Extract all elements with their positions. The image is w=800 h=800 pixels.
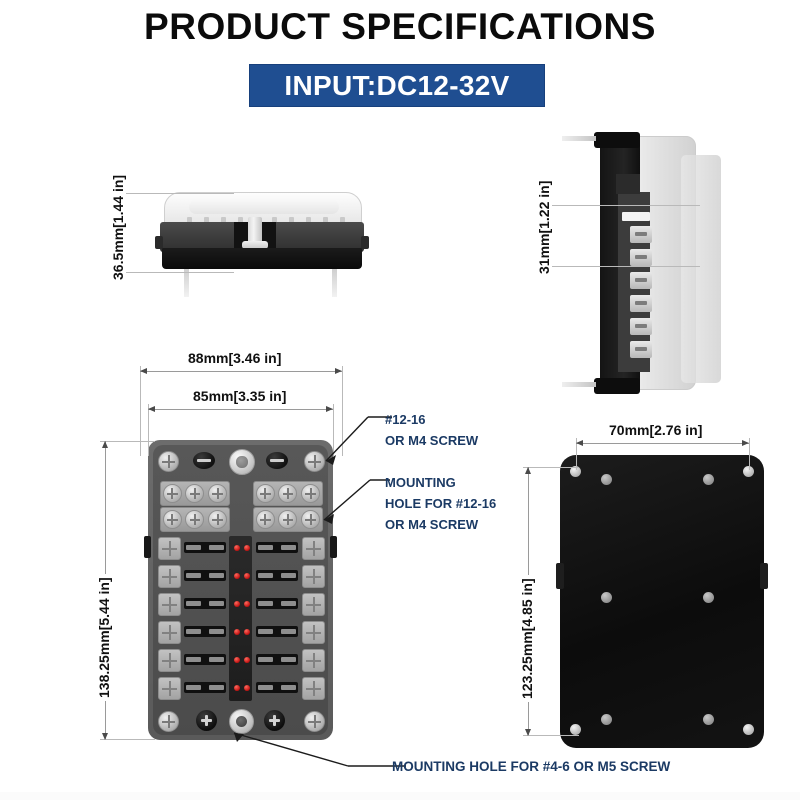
back-latch-tab-right <box>760 563 768 589</box>
terminal-screw-icon <box>301 510 320 529</box>
ext-line-tl-top <box>114 193 234 194</box>
fuse-blade-left <box>184 682 226 693</box>
ext-line-70-right <box>749 438 750 470</box>
led-left <box>234 629 240 635</box>
led-left <box>234 685 240 691</box>
circuit-screw-right-icon <box>302 593 325 616</box>
screw-top-icon <box>562 136 596 141</box>
ext-line-123-bottom <box>523 735 579 736</box>
circuit-screw-left-icon <box>158 593 181 616</box>
ext-line-88-left <box>140 366 141 456</box>
dim-label-138mm: 138.25mm[5.44 in] <box>96 574 112 701</box>
terminal-screw-icon <box>256 510 275 529</box>
dim-label-70mm: 70mm[2.76 in] <box>606 422 705 438</box>
back-panel-view <box>560 455 764 748</box>
input-voltage-badge: INPUT:DC12-32V <box>249 64 545 107</box>
callout-mounting-hole-m5: MOUNTING HOLE FOR #4-6 OR M5 SCREW <box>392 756 670 777</box>
callout-mounting-hole-m4-line-3: OR M4 SCREW <box>385 514 496 535</box>
ext-line-138-top <box>100 441 155 442</box>
side-tab-left <box>155 236 163 249</box>
fuse-array <box>158 536 323 701</box>
dim-label-height-36: 36.5mm[1.44 in] <box>110 172 126 283</box>
terminal-stack <box>630 226 652 368</box>
fuse-blade-left <box>184 542 226 553</box>
terminal-screw-icon <box>208 484 227 503</box>
circuit-screw-left-icon <box>158 565 181 588</box>
negative-bus-screw-left-icon <box>196 710 217 731</box>
housing-base <box>162 248 362 269</box>
upper-notch <box>616 174 640 194</box>
latch-tab-left <box>144 536 151 558</box>
fuse-blade-right <box>256 570 298 581</box>
led-right <box>244 601 250 607</box>
terminal-screw-icon <box>256 484 275 503</box>
ext-line-138-bottom <box>100 739 155 740</box>
led-right <box>244 657 250 663</box>
input-voltage-label: INPUT:DC12-32V <box>284 70 509 102</box>
dim-arrow-88-right <box>335 368 342 374</box>
ext-line-tr-bottom <box>540 266 700 267</box>
fuse-blade-right <box>256 598 298 609</box>
circuit-screw-left-icon <box>158 677 181 700</box>
led-right <box>244 629 250 635</box>
bus-bar <box>622 212 650 221</box>
callout-screw-spec-line-2: OR M4 SCREW <box>385 430 478 451</box>
callout-screw-spec: #12-16 OR M4 SCREW <box>385 409 478 451</box>
callout-mounting-hole-m4-line-2: HOLE FOR #12-16 <box>385 493 496 514</box>
dim-arrow-70-right <box>742 440 749 446</box>
terminal-screw-icon <box>301 484 320 503</box>
ground-terminal-block-bottom-left <box>160 507 230 532</box>
circuit-screw-left-icon <box>158 537 181 560</box>
bottom-margin-strip <box>0 792 800 800</box>
fuse-row <box>158 536 323 559</box>
back-screw-mid-right <box>703 592 714 603</box>
leader-line-mounting-hole-m5 <box>228 728 408 773</box>
circuit-screw-left-icon <box>158 621 181 644</box>
dim-line-88 <box>140 371 342 372</box>
callout-mounting-hole-m4-line-1: MOUNTING <box>385 472 496 493</box>
mounting-screw-left-icon <box>184 269 189 297</box>
fuse-blade-left <box>184 570 226 581</box>
back-screw-top-right <box>703 474 714 485</box>
back-screw-top-left <box>601 474 612 485</box>
dim-line-70 <box>576 443 749 444</box>
end-cap-bottom <box>594 378 640 394</box>
screw-bottom-icon <box>562 382 596 387</box>
fuse-row <box>158 676 323 699</box>
led-right <box>244 573 250 579</box>
fuse-blade-right <box>256 542 298 553</box>
led-left <box>234 573 240 579</box>
circuit-screw-right-icon <box>302 649 325 672</box>
circuit-screw-right-icon <box>302 677 325 700</box>
circuit-screw-left-icon <box>158 649 181 672</box>
fuse-blade-right <box>256 654 298 665</box>
negative-post-left-icon <box>193 452 215 469</box>
product-spec-sheet: PRODUCT SPECIFICATIONS INPUT:DC12-32V 36… <box>0 0 800 800</box>
ground-terminal-block-top-left <box>160 481 230 506</box>
led-right <box>244 685 250 691</box>
front-face-view <box>148 440 333 740</box>
fuse-row <box>158 648 323 671</box>
fuse-blade-left <box>184 654 226 665</box>
ground-terminal-block-bottom-right <box>253 507 323 532</box>
dim-label-88mm: 88mm[3.46 in] <box>185 350 284 366</box>
terminal-screw-icon <box>163 510 182 529</box>
led-right <box>244 545 250 551</box>
led-left <box>234 545 240 551</box>
dim-label-85mm: 85mm[3.35 in] <box>190 388 289 404</box>
fuse-blade-right <box>256 626 298 637</box>
front-edge-view <box>150 192 372 290</box>
side-tab-right <box>361 236 369 249</box>
back-screw-mid-left <box>601 592 612 603</box>
terminal-screw-icon <box>185 484 204 503</box>
dim-arrow-85-left <box>148 406 155 412</box>
dim-label-31mm: 31mm[1.22 in] <box>536 178 552 277</box>
led-left <box>234 601 240 607</box>
dim-label-123mm: 123.25mm[4.85 in] <box>519 575 535 702</box>
back-screw-bottom-right <box>703 714 714 725</box>
back-screw-bottom-left <box>601 714 612 725</box>
cover-highlight <box>189 200 339 214</box>
ground-terminal-block-top-right <box>253 481 323 506</box>
fuse-row <box>158 620 323 643</box>
side-profile-view <box>578 130 708 395</box>
back-latch-tab-left <box>556 563 564 589</box>
back-panel-body <box>560 455 764 748</box>
ext-line-tr-top <box>540 205 700 206</box>
dim-arrow-138-down <box>102 733 108 740</box>
ext-line-123-top <box>523 467 579 468</box>
back-mount-hole-bottom-right[interactable] <box>743 724 754 735</box>
dim-arrow-123-up <box>525 467 531 474</box>
terminal-screw-icon <box>185 510 204 529</box>
dim-arrow-88-left <box>140 368 147 374</box>
fuse-row <box>158 592 323 615</box>
terminal-screw-icon <box>208 510 227 529</box>
back-mount-hole-bottom-left[interactable] <box>570 724 581 735</box>
terminal-screw-icon <box>163 484 182 503</box>
mounting-screw-right-icon <box>332 269 337 297</box>
corner-screw-bottom-left-icon <box>158 711 179 732</box>
cover-inner-side <box>681 155 721 383</box>
ext-line-tl-bottom <box>114 272 234 273</box>
top-terminal-bar <box>156 447 325 475</box>
led-left <box>234 657 240 663</box>
fuse-blade-left <box>184 598 226 609</box>
end-cap-top <box>594 132 640 148</box>
terminal-screw-icon <box>278 484 297 503</box>
callout-screw-spec-line-1: #12-16 <box>385 409 478 430</box>
dim-arrow-123-down <box>525 729 531 736</box>
main-power-stud-icon <box>229 449 255 475</box>
fuse-row <box>158 564 323 587</box>
dim-arrow-70-left <box>576 440 583 446</box>
circuit-screw-right-icon <box>302 537 325 560</box>
terminal-screw-icon <box>278 510 297 529</box>
circuit-screw-right-icon <box>302 565 325 588</box>
callout-mounting-hole-m4: MOUNTING HOLE FOR #12-16 OR M4 SCREW <box>385 472 496 535</box>
fuse-blade-right <box>256 682 298 693</box>
circuit-screw-right-icon <box>302 621 325 644</box>
dim-arrow-138-up <box>102 441 108 448</box>
fuse-blade-left <box>184 626 226 637</box>
dim-line-85 <box>148 409 333 410</box>
corner-screw-top-left-icon <box>158 451 179 472</box>
negative-post-right-icon <box>266 452 288 469</box>
page-title: PRODUCT SPECIFICATIONS <box>0 6 800 48</box>
